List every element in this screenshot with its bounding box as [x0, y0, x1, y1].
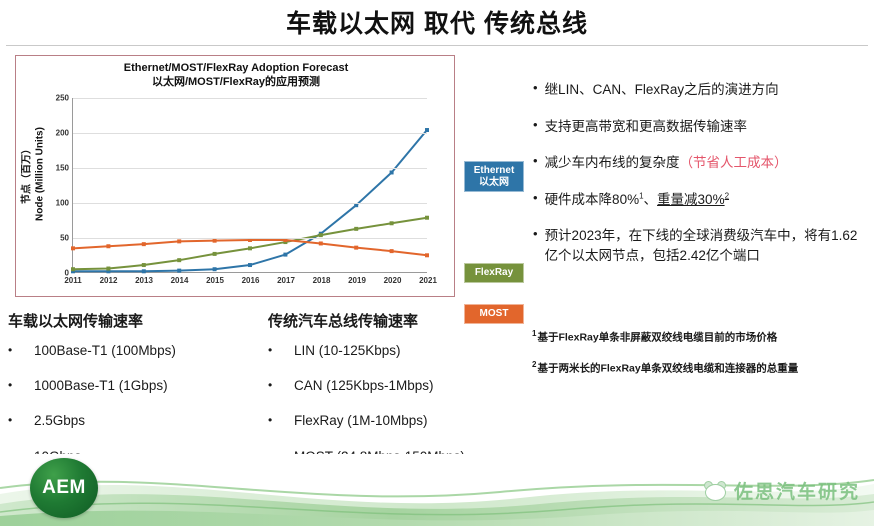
bullet-text: 预计2023年，在下线的全球消费级汽车中，将有1.62亿个以太网节点，包括2.4…: [545, 226, 868, 265]
x-axis-tick: 2015: [206, 276, 224, 285]
series-marker-most: [319, 241, 323, 245]
column-list: •100Base-T1 (100Mbps) •1000Base-T1 (1Gbp…: [8, 343, 258, 465]
list-item-label: LIN (10-125Kbps): [294, 343, 401, 359]
y-axis-tick: 150: [56, 164, 69, 173]
series-marker-flexray: [71, 267, 75, 271]
list-item-label: FlexRay (1M-10Mbps): [294, 413, 428, 429]
chart-gridline: [73, 238, 427, 239]
column-heading: 传统汽车总线传输速率: [268, 310, 528, 331]
bullet-text: 减少车内布线的复杂度（节省人工成本）: [545, 153, 868, 173]
x-axis-tick: 2016: [242, 276, 260, 285]
list-item-label: CAN (125Kbps-1Mbps): [294, 378, 434, 394]
bullet-separator: 、: [644, 192, 658, 207]
y-axis-tick: 200: [56, 129, 69, 138]
x-axis-tick: 2018: [313, 276, 331, 285]
y-axis-tick: 50: [60, 234, 69, 243]
list-item-label: 100Base-T1 (100Mbps): [34, 343, 176, 359]
series-marker-flexray: [142, 263, 146, 267]
series-marker-flexray: [354, 227, 358, 231]
series-marker-flexray: [248, 246, 252, 250]
legend-ethernet-en: Ethernet: [474, 165, 515, 176]
x-axis-tick: 2013: [135, 276, 153, 285]
series-marker-most: [106, 244, 110, 248]
bullet-dot: •: [8, 343, 34, 357]
bullet-item-3: • 减少车内布线的复杂度（节省人工成本）: [533, 153, 868, 173]
chart-title-cn: 以太网/MOST/FlexRay的应用预测: [16, 76, 456, 90]
chart-gridline: [73, 168, 427, 169]
y-axis-tick: 250: [56, 94, 69, 103]
x-axis-tick: 2012: [100, 276, 118, 285]
y-axis-title: 节点（百万） Node (Million Units): [22, 127, 47, 221]
series-marker-ethernet: [425, 128, 429, 132]
footnote-marker: 2: [532, 360, 536, 369]
bullet-dot: •: [8, 413, 34, 427]
footnote-ref-2: 2: [725, 191, 729, 200]
series-marker-ethernet: [142, 269, 146, 273]
chart-title-en: Ethernet/MOST/FlexRay Adoption Forecast: [16, 62, 456, 76]
y-axis-title-en: Node (Million Units): [34, 127, 45, 221]
panda-icon: [702, 481, 728, 501]
chart-gridline: [73, 98, 427, 99]
brand-name: 佐思汽车研究: [734, 477, 860, 504]
series-marker-ethernet: [177, 269, 181, 273]
list-item: •1000Base-T1 (1Gbps): [8, 378, 258, 394]
bullet-weight-text: 重量减30%: [657, 192, 725, 207]
series-marker-most: [71, 246, 75, 250]
series-marker-flexray: [390, 221, 394, 225]
series-marker-most: [213, 239, 217, 243]
chart-panel: Ethernet/MOST/FlexRay Adoption Forecast …: [15, 55, 455, 297]
panda-head-icon: [705, 484, 726, 501]
series-marker-flexray: [319, 233, 323, 237]
y-axis-title-cn: 节点（百万）: [22, 144, 33, 204]
column-heading: 车载以太网传输速率: [8, 310, 258, 331]
series-marker-ethernet: [213, 267, 217, 271]
bullet-text-main: 减少车内布线的复杂度: [545, 155, 680, 170]
list-item: •FlexRay (1M-10Mbps): [268, 413, 528, 429]
legend-flexray[interactable]: FlexRay: [464, 263, 524, 283]
chart-plot-area: 0501001502002502011201220132014201520162…: [72, 98, 427, 273]
aem-logo: AEM: [30, 458, 98, 518]
bullet-cost-text: 硬件成本降80%: [545, 192, 640, 207]
series-marker-flexray: [213, 252, 217, 256]
bullet-item-1: • 继LIN、CAN、FlexRay之后的演进方向: [533, 80, 868, 100]
x-axis-tick: 2020: [384, 276, 402, 285]
footnote-1: 1基于FlexRay单条非屏蔽双绞线电缆目前的市场价格: [532, 328, 872, 345]
series-marker-ethernet: [248, 263, 252, 267]
series-marker-most: [390, 249, 394, 253]
title-divider: [6, 45, 868, 46]
list-item-label: 1000Base-T1 (1Gbps): [34, 378, 168, 394]
x-axis-tick: 2019: [348, 276, 366, 285]
bullet-dot: •: [533, 226, 538, 243]
series-marker-most: [425, 253, 429, 257]
x-axis-tick: 2021: [419, 276, 437, 285]
bullet-dot: •: [268, 413, 294, 427]
bullet-dot: •: [533, 190, 538, 207]
series-marker-most: [354, 246, 358, 250]
page-title: 车载以太网 取代 传统总线: [0, 4, 874, 40]
series-marker-flexray: [106, 267, 110, 271]
chart-series-layer: [73, 98, 427, 272]
bullet-item-2: • 支持更高带宽和更高数据传输速率: [533, 117, 868, 137]
bullet-text-highlight: （节省人工成本）: [680, 155, 788, 170]
footnote-text: 基于FlexRay单条非屏蔽双绞线电缆目前的市场价格: [537, 332, 777, 344]
list-item: •CAN (125Kbps-1Mbps): [268, 378, 528, 394]
bullet-dot: •: [533, 117, 538, 134]
footnote-marker: 1: [532, 329, 536, 338]
legend-ethernet-cn: 以太网: [479, 177, 509, 188]
list-item: •100Base-T1 (100Mbps): [8, 343, 258, 359]
series-marker-most: [142, 242, 146, 246]
slide-root: 车载以太网 取代 传统总线 Ethernet/MOST/FlexRay Adop…: [0, 0, 874, 526]
bullet-item-4: • 硬件成本降80%1、重量减30%2: [533, 190, 868, 210]
chart-title: Ethernet/MOST/FlexRay Adoption Forecast …: [16, 62, 456, 90]
bullet-dot: •: [533, 153, 538, 170]
chart-gridline: [73, 133, 427, 134]
footer-band: AEM 佐思汽车研究: [0, 454, 874, 526]
series-marker-ethernet: [390, 170, 394, 174]
bullet-dot: •: [268, 378, 294, 392]
column-list: •LIN (10-125Kbps) •CAN (125Kbps-1Mbps) •…: [268, 343, 528, 465]
y-axis-tick: 100: [56, 199, 69, 208]
bullet-text: 继LIN、CAN、FlexRay之后的演进方向: [545, 80, 868, 100]
x-axis-tick: 2017: [277, 276, 295, 285]
series-marker-ethernet: [283, 253, 287, 257]
x-axis-tick: 2014: [171, 276, 189, 285]
list-item-label: 2.5Gbps: [34, 413, 85, 429]
list-item: •2.5Gbps: [8, 413, 258, 429]
series-line-flexray: [73, 218, 427, 270]
brand-watermark: 佐思汽车研究: [702, 477, 860, 504]
chart-gridline: [73, 203, 427, 204]
x-axis-tick: 2011: [64, 276, 81, 285]
bullet-list: • 继LIN、CAN、FlexRay之后的演进方向 • 支持更高带宽和更高数据传…: [533, 80, 868, 282]
footnote-2: 2基于两米长的FlexRay单条双绞线电缆和连接器的总重量: [532, 359, 872, 376]
bullet-item-5: • 预计2023年，在下线的全球消费级汽车中，将有1.62亿个以太网节点，包括2…: [533, 226, 868, 265]
bullet-dot: •: [8, 378, 34, 392]
legend-ethernet[interactable]: Ethernet 以太网: [464, 161, 524, 192]
series-marker-flexray: [177, 258, 181, 262]
list-item: •LIN (10-125Kbps): [268, 343, 528, 359]
bullet-text: 硬件成本降80%1、重量减30%2: [545, 190, 868, 210]
bullet-dot: •: [268, 343, 294, 357]
bullet-text: 支持更高带宽和更高数据传输速率: [545, 117, 868, 137]
series-marker-flexray: [425, 216, 429, 220]
bullet-dot: •: [533, 80, 538, 97]
footnote-list: 1基于FlexRay单条非屏蔽双绞线电缆目前的市场价格 2基于两米长的FlexR…: [532, 328, 872, 390]
series-marker-most: [177, 239, 181, 243]
footnote-text: 基于两米长的FlexRay单条双绞线电缆和连接器的总重量: [537, 363, 798, 375]
aem-logo-text: AEM: [42, 477, 86, 499]
